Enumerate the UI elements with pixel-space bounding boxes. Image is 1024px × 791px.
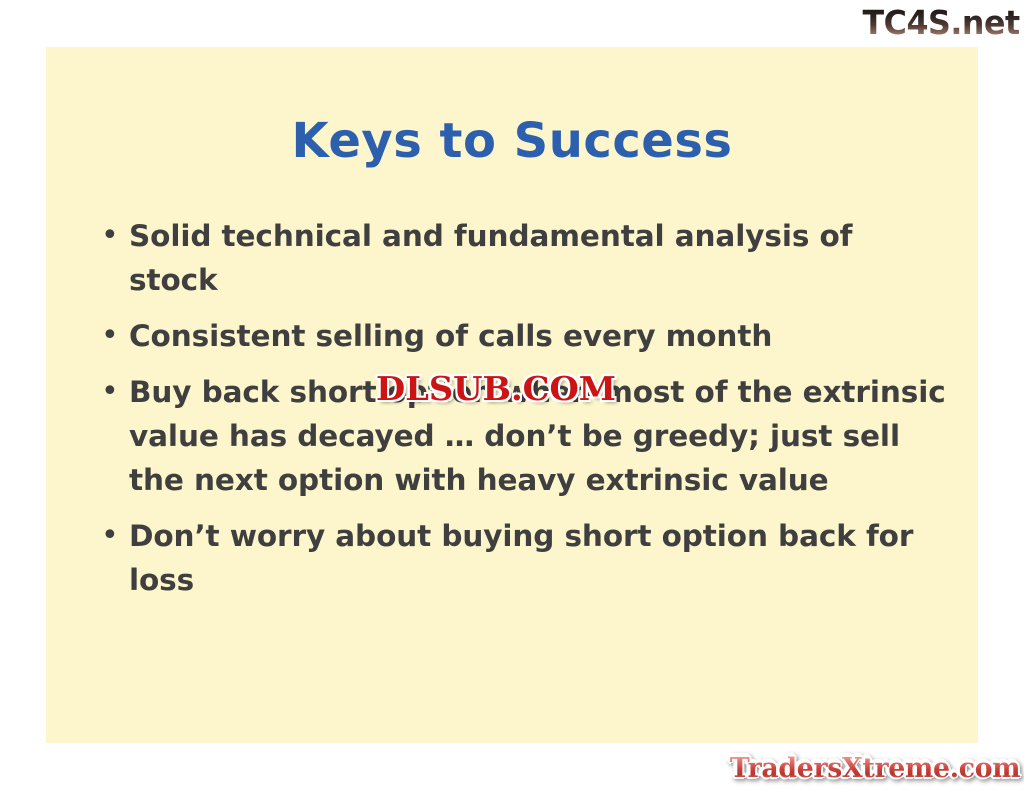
watermark-overlay: DLSUB.COM: [376, 369, 616, 409]
brand-logo-top-right-text: TC4S.net: [863, 6, 1020, 39]
bullet-item-text: Consistent selling of calls every month: [129, 314, 951, 358]
bullet-item: • Consistent selling of calls every mont…: [95, 314, 951, 358]
bullet-point-icon: •: [95, 370, 129, 414]
bullet-point-icon: •: [95, 214, 129, 258]
brand-logo-bottom-right: TradersXtreme.com: [708, 750, 1020, 786]
bullet-item-text: Solid technical and fundamental analysis…: [129, 214, 951, 302]
slide-title: Keys to Success: [46, 117, 978, 165]
bullet-point-icon: •: [95, 314, 129, 358]
bullet-point-icon: •: [95, 514, 129, 558]
brand-logo-top-right: TC4S.net: [828, 0, 1024, 44]
bullet-item: • Don’t worry about buying short option …: [95, 514, 951, 602]
bullet-item-text: Don’t worry about buying short option ba…: [129, 514, 951, 602]
bullet-list: • Solid technical and fundamental analys…: [95, 214, 951, 614]
bullet-item: • Solid technical and fundamental analys…: [95, 214, 951, 302]
brand-logo-bottom-right-text: TradersXtreme.com: [730, 755, 1020, 782]
